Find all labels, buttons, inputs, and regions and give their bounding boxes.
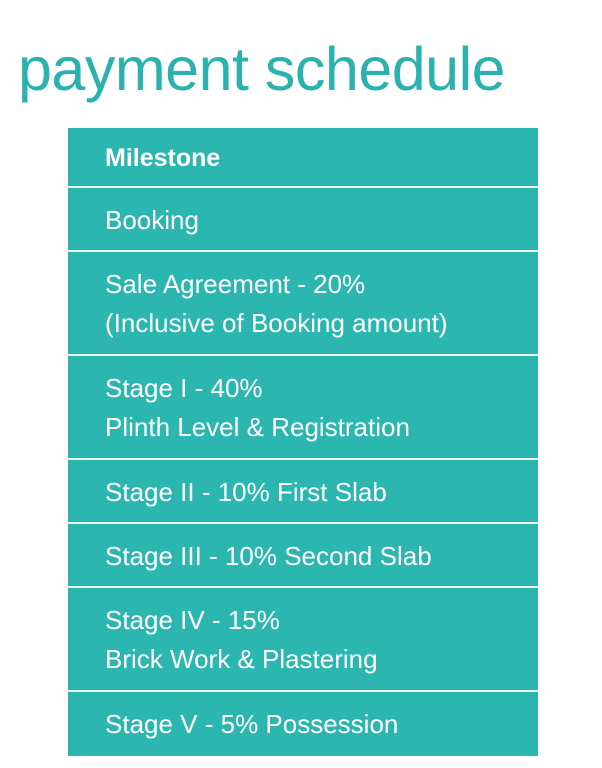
table-row[interactable]: Sale Agreement - 20% (Inclusive of Booki… xyxy=(68,252,538,356)
table-row[interactable]: Stage I - 40% Plinth Level & Registratio… xyxy=(68,356,538,460)
milestone-label-line1: Stage V - 5% Possession xyxy=(105,705,520,744)
milestone-label-line1: Sale Agreement - 20% xyxy=(105,265,520,304)
milestone-label-line1: Stage IV - 15% xyxy=(105,601,520,640)
table-row[interactable]: Booking xyxy=(68,188,538,252)
page-title: payment schedule xyxy=(18,33,593,105)
table-header-row: Milestone xyxy=(68,128,538,188)
milestone-label-line1: Stage II - 10% First Slab xyxy=(105,473,520,512)
table-row[interactable]: Stage V - 5% Possession xyxy=(68,692,538,756)
milestone-label-line1: Stage III - 10% Second Slab xyxy=(105,537,520,576)
table-row[interactable]: Stage II - 10% First Slab xyxy=(68,460,538,524)
payment-schedule-page: payment schedule Milestone Booking Sale … xyxy=(0,0,602,768)
milestone-label-line2: Brick Work & Plastering xyxy=(105,640,520,679)
table-row[interactable]: Stage III - 10% Second Slab xyxy=(68,524,538,588)
payment-schedule-table: Milestone Booking Sale Agreement - 20% (… xyxy=(68,128,538,756)
table-row[interactable]: Stage IV - 15% Brick Work & Plastering xyxy=(68,588,538,692)
milestone-label-line1: Booking xyxy=(105,201,520,240)
milestone-label-line1: Stage I - 40% xyxy=(105,369,520,408)
column-header-milestone: Milestone xyxy=(105,139,520,178)
milestone-label-line2: Plinth Level & Registration xyxy=(105,408,520,447)
milestone-label-line2: (Inclusive of Booking amount) xyxy=(105,304,520,343)
